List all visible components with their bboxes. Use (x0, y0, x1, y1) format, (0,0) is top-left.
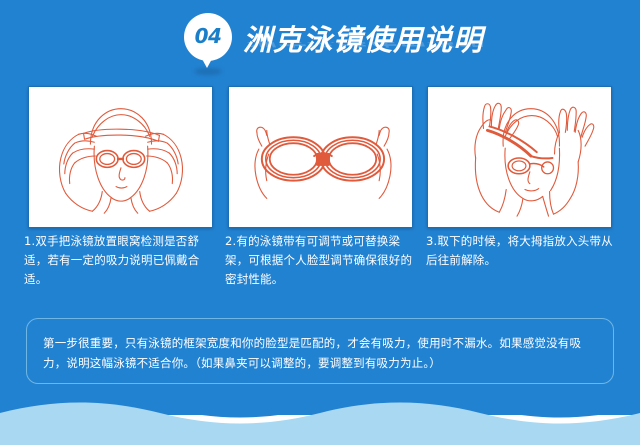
illustration-panel-3 (427, 86, 612, 228)
step-number-badge: 04 (184, 13, 232, 61)
illustration-panel-2 (228, 86, 413, 228)
step-number-label: 04 (184, 13, 232, 61)
illustration-panel-row (28, 86, 612, 228)
note-text: 第一步很重要，只有泳镜的框架宽度和你的脸型是匹配的，才会有吸力，使用时不漏水。如… (43, 333, 597, 373)
goggles-on-eyes-illustration-icon (29, 87, 212, 227)
note-box: 第一步很重要，只有泳镜的框架宽度和你的脸型是匹配的，才会有吸力，使用时不漏水。如… (26, 318, 614, 384)
caption-2: 2.有的泳镜带有可调节或可替换梁架，可根据个人脸型调节确保很好的密封性能。 (225, 232, 415, 308)
bottom-wave-decoration (0, 395, 640, 445)
caption-3: 3.取下的时候，将大拇指放入头带从后往前解除。 (426, 232, 616, 308)
badge-shadow (194, 68, 222, 75)
caption-1: 1.双手把泳镜放置眼窝检测是否舒适，若有一定的吸力说明已佩戴合适。 (24, 232, 214, 308)
instruction-poster: 洲克泳镜使用说明 04 洲克泳镜使用说明 (0, 0, 640, 445)
goggles-nose-bridge-illustration-icon (229, 87, 412, 227)
caption-row: 1.双手把泳镜放置眼窝检测是否舒适，若有一定的吸力说明已佩戴合适。 2.有的泳镜… (24, 232, 616, 308)
page-title: 洲克泳镜使用说明 (243, 17, 483, 59)
removing-goggles-illustration-icon (428, 87, 611, 227)
illustration-panel-1 (28, 86, 213, 228)
poster-header: 洲克泳镜使用说明 04 洲克泳镜使用说明 (0, 0, 640, 80)
